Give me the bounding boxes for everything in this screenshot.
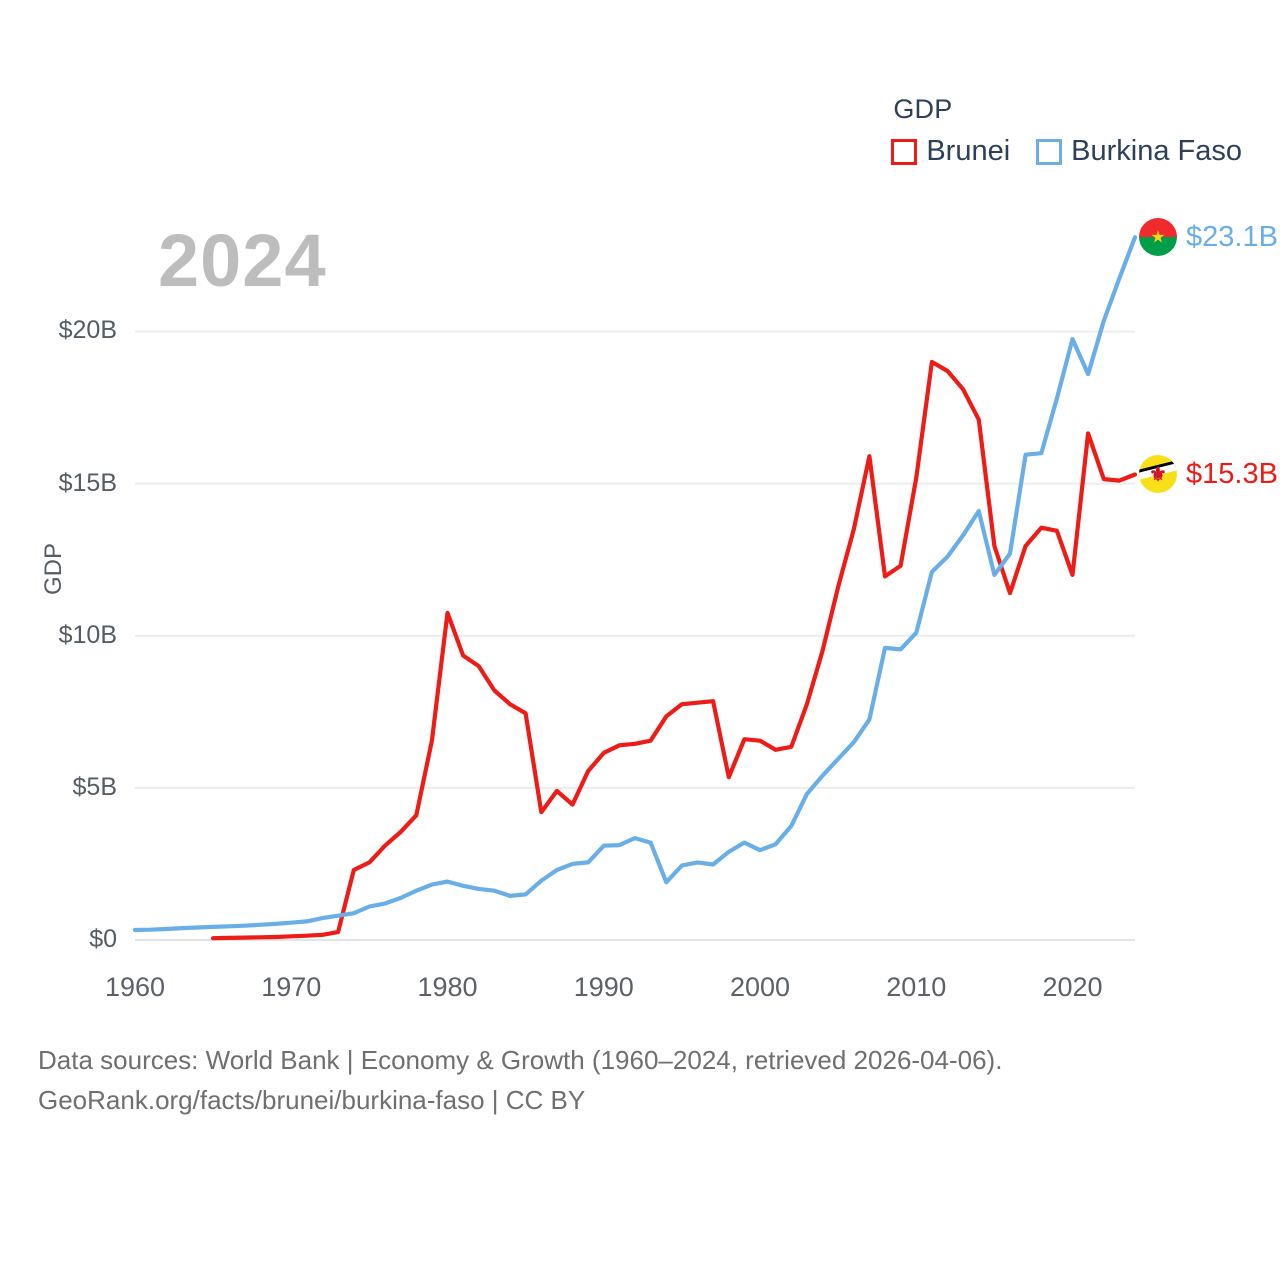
series-line-brunei: [213, 362, 1135, 938]
x-tick-label: 2010: [846, 974, 986, 1001]
footer-line-1: Data sources: World Bank | Economy & Gro…: [38, 1040, 1238, 1080]
x-tick-label: 1990: [534, 974, 674, 1001]
y-tick-label: $15B: [7, 471, 117, 496]
x-tick-label: 2020: [1003, 974, 1143, 1001]
y-tick-label: $5B: [7, 775, 117, 800]
y-tick-label: $0: [7, 927, 117, 952]
x-tick-label: 2000: [690, 974, 830, 1001]
end-label-brunei: ⚜ $15.3B: [1139, 455, 1278, 493]
y-tick-label: $20B: [7, 318, 117, 343]
gridlines: [135, 331, 1135, 940]
x-tick-label: 1980: [378, 974, 518, 1001]
x-tick-label: 1970: [221, 974, 361, 1001]
end-value-burkina-faso: $23.1B: [1186, 223, 1278, 252]
footer-line-2: GeoRank.org/facts/brunei/burkina-faso | …: [38, 1080, 1238, 1120]
end-label-burkina-faso: ★ $23.1B: [1139, 218, 1278, 256]
y-axis-label: GDP: [40, 509, 68, 629]
end-value-brunei: $15.3B: [1186, 460, 1278, 489]
series-lines: [135, 237, 1135, 938]
burkina-faso-flag-icon: ★: [1139, 218, 1177, 256]
x-tick-label: 1960: [65, 974, 205, 1001]
brunei-flag-icon: ⚜: [1139, 455, 1177, 493]
footer-attribution: Data sources: World Bank | Economy & Gro…: [38, 1040, 1238, 1121]
series-line-burkina-faso: [135, 237, 1135, 930]
